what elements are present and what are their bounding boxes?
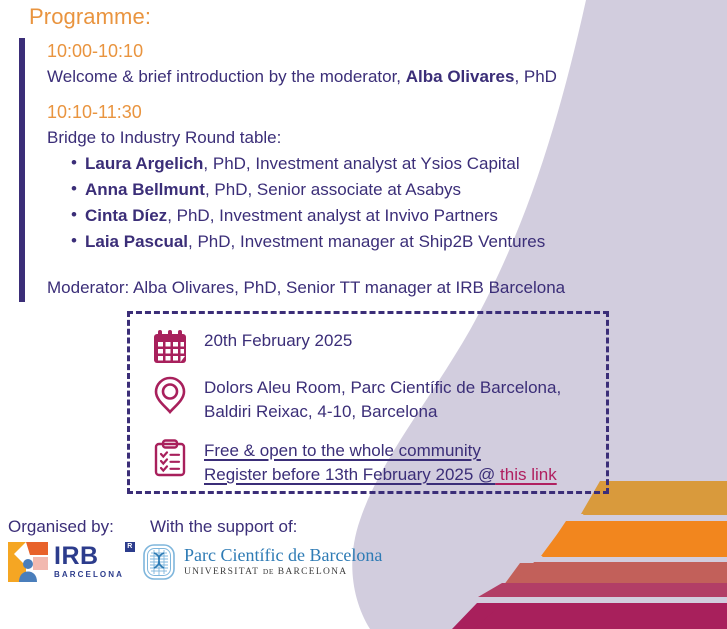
programme-title: Programme: bbox=[29, 4, 151, 30]
calendar-icon bbox=[152, 329, 188, 367]
slot-2-time: 10:10-11:30 bbox=[47, 99, 607, 125]
detail-location-text: Dolors Aleu Room, Parc Científic de Barc… bbox=[204, 376, 561, 424]
panelist-role: , PhD, Investment analyst at Invivo Part… bbox=[167, 206, 498, 225]
stripe-3 bbox=[509, 562, 727, 596]
stripe-terracotta bbox=[495, 563, 727, 597]
panelist-role: , PhD, Investment manager at Ship2B Vent… bbox=[188, 232, 545, 251]
slot-1-description: Welcome & brief introduction by the mode… bbox=[47, 64, 607, 90]
irb-acronym: IRBR bbox=[54, 544, 124, 569]
list-item: Laia Pascual, PhD, Investment manager at… bbox=[71, 229, 607, 255]
stripe-magenta-band bbox=[474, 603, 727, 629]
panelist-role: , PhD, Investment analyst at Ysios Capit… bbox=[203, 154, 519, 173]
list-item: Cinta Díez, PhD, Investment analyst at I… bbox=[71, 203, 607, 229]
panelist-name: Anna Bellmunt bbox=[85, 180, 205, 199]
registration-line-2: Register before 13th February 2025 @ thi… bbox=[204, 463, 557, 487]
slot-1-desc-before: Welcome & brief introduction by the mode… bbox=[47, 67, 406, 86]
detail-date-text: 20th February 2025 bbox=[204, 329, 352, 353]
location-line-2: Baldiri Reixac, 4-10, Barcelona bbox=[204, 400, 561, 424]
programme-body: 10:00-10:10 Welcome & brief introduction… bbox=[47, 38, 607, 255]
irb-mark-icon bbox=[8, 542, 48, 582]
registration-line-1: Free & open to the whole community bbox=[204, 439, 557, 463]
pcb-subtitle: UNIVERSITAT DE BARCELONA bbox=[184, 565, 382, 579]
irb-acronym-text: IRB bbox=[54, 542, 99, 570]
map-pin-icon bbox=[152, 376, 188, 414]
detail-row-registration: Free & open to the whole community Regis… bbox=[152, 439, 557, 487]
list-item: Laura Argelich, PhD, Investment analyst … bbox=[71, 151, 607, 177]
registration-link[interactable]: this link bbox=[495, 465, 556, 484]
irb-barcelona-logo: IRBR BARCELONA bbox=[8, 541, 130, 583]
list-item: Anna Bellmunt, PhD, Senior associate at … bbox=[71, 177, 607, 203]
stripe-3-terracotta bbox=[508, 562, 727, 596]
stripe-2-orange bbox=[541, 521, 727, 556]
programme-accent-bar bbox=[19, 38, 25, 302]
slot-1-desc-after: , PhD bbox=[514, 67, 557, 86]
pcb-sub-universitat: UNIVERSITAT bbox=[184, 567, 259, 577]
detail-row-date: 20th February 2025 bbox=[152, 329, 352, 367]
location-line-1: Dolors Aleu Room, Parc Científic de Barc… bbox=[204, 376, 561, 400]
pcb-sub-barcelona: BARCELONA bbox=[278, 567, 348, 577]
moderator-line: Moderator: Alba Olivares, PhD, Senior TT… bbox=[47, 278, 565, 298]
parc-cientific-barcelona-logo: Parc Científic de Barcelona UNIVERSITAT … bbox=[143, 543, 358, 581]
slot-2-description: Bridge to Industry Round table: bbox=[47, 125, 607, 151]
pcb-sub-de: DE bbox=[263, 567, 274, 576]
event-details-box: 20th February 2025 Dolors Aleu Room, Par… bbox=[127, 311, 609, 494]
registration-line-2-prefix: Register before 13th February 2025 @ bbox=[204, 465, 495, 484]
slot-1-time: 10:00-10:10 bbox=[47, 38, 607, 64]
slot-1-speaker-name: Alba Olivares bbox=[406, 67, 515, 86]
panelist-list: Laura Argelich, PhD, Investment analyst … bbox=[47, 151, 607, 255]
registered-mark-icon: R bbox=[125, 542, 135, 552]
stripe-5 bbox=[474, 603, 727, 629]
detail-row-location: Dolors Aleu Room, Parc Científic de Barc… bbox=[152, 376, 561, 424]
pcb-name: Parc Científic de Barcelona bbox=[184, 545, 382, 565]
detail-registration-text: Free & open to the whole community Regis… bbox=[204, 439, 557, 487]
poster-canvas: Programme: 10:00-10:10 Welcome & brief i… bbox=[0, 0, 727, 629]
pcb-wordmark: Parc Científic de Barcelona UNIVERSITAT … bbox=[184, 545, 382, 579]
with-support-of-label: With the support of: bbox=[150, 517, 297, 537]
panelist-name: Laura Argelich bbox=[85, 154, 203, 173]
stripe-3b bbox=[496, 582, 727, 596]
organised-by-label: Organised by: bbox=[8, 517, 114, 537]
stripe-3c bbox=[515, 562, 727, 580]
irb-wordmark: IRBR BARCELONA bbox=[54, 544, 124, 580]
clipboard-checklist-icon bbox=[152, 439, 188, 477]
panelist-role: , PhD, Senior associate at Asabys bbox=[205, 180, 461, 199]
pcb-mark-icon bbox=[143, 544, 175, 580]
spacer bbox=[47, 90, 607, 99]
panelist-name: Laia Pascual bbox=[85, 232, 188, 251]
stripe-magenta bbox=[452, 603, 727, 629]
panelist-name: Cinta Díez bbox=[85, 206, 167, 225]
stripe-orange bbox=[542, 521, 727, 557]
stripe-terracotta-band bbox=[509, 562, 727, 596]
stripe-4-rose bbox=[478, 583, 727, 597]
irb-subtitle: BARCELONA bbox=[54, 569, 124, 580]
